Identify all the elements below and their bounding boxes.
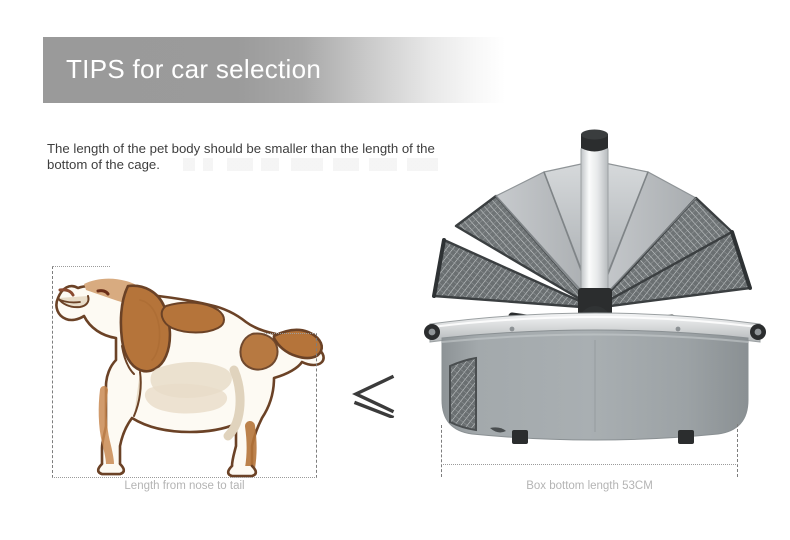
less-than-or-equal-icon: [350, 372, 398, 418]
page-title: TIPS for car selection: [66, 54, 321, 85]
dog-guide-right-vertical: [316, 333, 317, 478]
faint-artifact: [183, 158, 438, 171]
box-measure-caption: Box bottom length 53CM: [441, 480, 738, 492]
box-guide-left-vertical: [441, 425, 442, 477]
dog-illustration: [40, 250, 340, 495]
rim-hook-right: [750, 324, 766, 340]
side-mesh-window: [450, 358, 476, 430]
dog-guide-top-tick: [52, 266, 110, 267]
page-canvas: TIPS for car selection The length of the…: [0, 0, 790, 540]
carrier-body: [442, 330, 748, 440]
dog-measure-caption: Length from nose to tail: [52, 480, 317, 492]
dog-guide-tail-tick: [264, 333, 317, 334]
pet-stroller-carrier-icon: [420, 128, 770, 458]
dog-guide-baseline: [52, 477, 317, 478]
dog-guide-left-vertical: [52, 266, 53, 478]
beagle-side-view-icon: [40, 250, 340, 495]
box-guide-right-vertical: [737, 424, 738, 477]
stroller-illustration: [420, 128, 770, 458]
rim-hook-left: [424, 324, 440, 340]
box-guide-baseline: [441, 464, 738, 465]
